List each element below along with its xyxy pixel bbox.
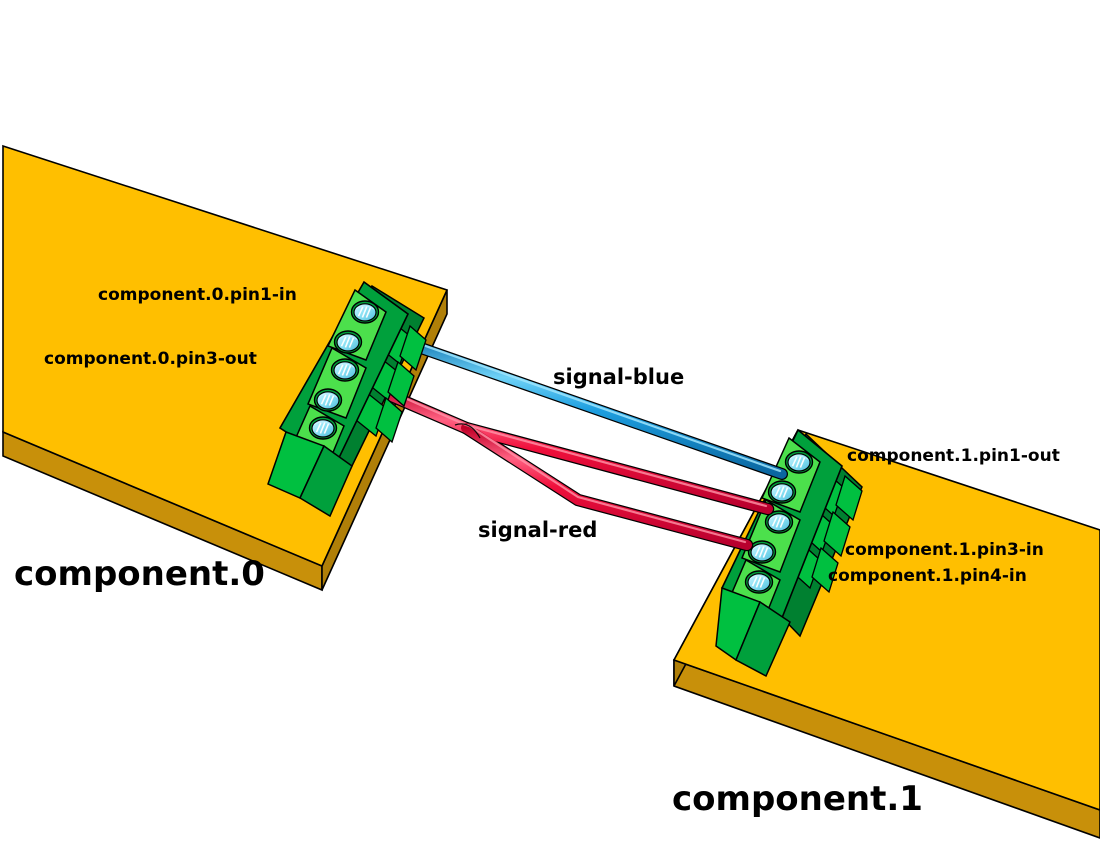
board-title-component-1: component.1 bbox=[672, 779, 923, 819]
diagram-canvas: component.0.pin1-in component.0.pin3-out… bbox=[0, 0, 1100, 850]
signal-label-red: signal-red bbox=[478, 518, 597, 542]
pin-label-component-1-pin3-in: component.1.pin3-in bbox=[845, 540, 1044, 560]
screw-terminal-0-2[interactable] bbox=[335, 331, 362, 353]
screw-terminal-1-5[interactable] bbox=[746, 571, 773, 593]
signal-label-blue: signal-blue bbox=[553, 365, 684, 389]
screw-terminal-0-5[interactable] bbox=[310, 417, 337, 439]
pin-label-component-1-pin1-out: component.1.pin1-out bbox=[847, 446, 1060, 466]
pin-label-component-0-pin3-out: component.0.pin3-out bbox=[44, 349, 257, 369]
screw-terminal-1-2[interactable] bbox=[769, 481, 796, 503]
pin-label-component-1-pin4-in: component.1.pin4-in bbox=[828, 566, 1027, 586]
wire-signal-blue[interactable] bbox=[398, 337, 782, 474]
screw-terminal-1-1[interactable] bbox=[786, 451, 813, 473]
pin-label-component-0-pin1-in: component.0.pin1-in bbox=[98, 285, 297, 305]
screw-terminal-0-1[interactable] bbox=[352, 301, 379, 323]
screw-terminal-0-3[interactable] bbox=[332, 359, 359, 381]
wire-blue-highlight bbox=[400, 337, 780, 471]
wire-blue-core bbox=[398, 340, 782, 474]
wiring-diagram-svg: component.0.pin1-in component.0.pin3-out… bbox=[0, 0, 1100, 850]
screw-terminal-0-4[interactable] bbox=[315, 389, 342, 411]
board-title-component-0: component.0 bbox=[14, 554, 265, 594]
